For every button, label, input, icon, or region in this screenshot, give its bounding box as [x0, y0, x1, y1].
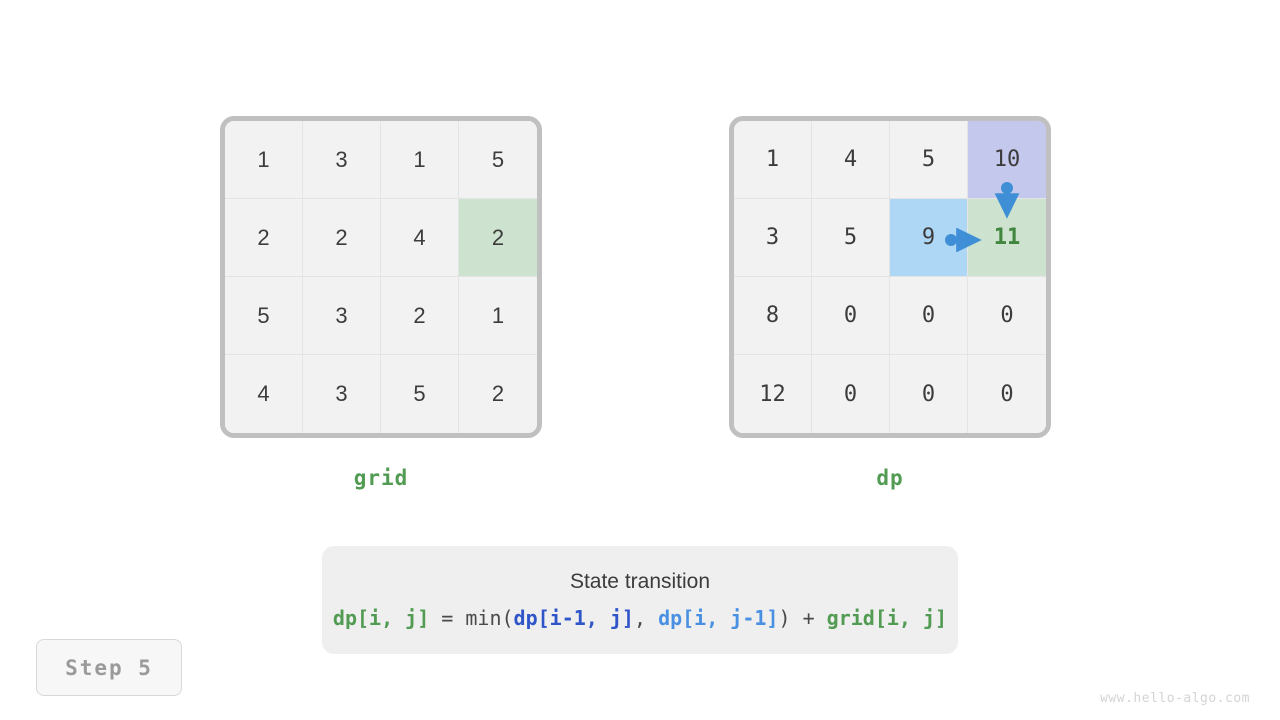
formula-token-7: grid[i, j]: [827, 606, 947, 630]
dp-matrix: 1451035911800012000: [729, 116, 1051, 438]
grid-cell-r2-c2: 2: [381, 277, 459, 355]
formula-token-6: ) +: [778, 606, 826, 630]
grid-cell-r3-c0: 4: [225, 355, 303, 433]
grid-cell-r0-c3: 5: [459, 121, 537, 199]
formula-token-3: dp[i-1, j]: [514, 606, 634, 630]
dp-matrix-label: dp: [729, 466, 1051, 490]
dp-cell-r0-c3: 10: [968, 121, 1046, 199]
state-transition-panel: State transition dp[i, j] = min(dp[i-1, …: [322, 546, 958, 654]
formula-token-1: =: [429, 606, 465, 630]
dp-cell-r1-c1: 5: [812, 199, 890, 277]
dp-cell-r0-c1: 4: [812, 121, 890, 199]
dp-cell-r0-c0: 1: [734, 121, 812, 199]
grid-cell-r3-c3: 2: [459, 355, 537, 433]
grid-cell-r2-c3: 1: [459, 277, 537, 355]
dp-cell-r1-c0: 3: [734, 199, 812, 277]
grid-cell-r0-c0: 1: [225, 121, 303, 199]
dp-cell-r2-c3: 0: [968, 277, 1046, 355]
grid-cell-r0-c1: 3: [303, 121, 381, 199]
grid-cell-r1-c1: 2: [303, 199, 381, 277]
state-transition-formula: dp[i, j] = min(dp[i-1, j], dp[i, j-1]) +…: [333, 606, 947, 630]
formula-token-4: ,: [634, 606, 658, 630]
state-transition-title: State transition: [570, 570, 710, 594]
dp-cell-r1-c2: 9: [890, 199, 968, 277]
formula-token-0: dp[i, j]: [333, 606, 429, 630]
formula-token-5: dp[i, j-1]: [658, 606, 778, 630]
dp-cell-r3-c0: 12: [734, 355, 812, 433]
dp-cell-r0-c2: 5: [890, 121, 968, 199]
dp-cell-r3-c2: 0: [890, 355, 968, 433]
grid-cell-r2-c1: 3: [303, 277, 381, 355]
grid-cell-r1-c3: 2: [459, 199, 537, 277]
grid-matrix-panel: 1315224253214352 grid: [220, 116, 542, 490]
dp-cell-r2-c2: 0: [890, 277, 968, 355]
dp-cell-r3-c3: 0: [968, 355, 1046, 433]
grid-cell-r0-c2: 1: [381, 121, 459, 199]
dp-matrix-panel: 1451035911800012000 dp: [729, 116, 1051, 490]
watermark: www.hello-algo.com: [1100, 691, 1250, 706]
grid-cell-r3-c2: 5: [381, 355, 459, 433]
step-badge: Step 5: [36, 639, 182, 696]
dp-cell-r2-c1: 0: [812, 277, 890, 355]
grid-matrix: 1315224253214352: [220, 116, 542, 438]
grid-cell-r2-c0: 5: [225, 277, 303, 355]
formula-token-2: min(: [465, 606, 513, 630]
grid-matrix-label: grid: [220, 466, 542, 490]
grid-cell-r1-c2: 4: [381, 199, 459, 277]
grid-cell-r1-c0: 2: [225, 199, 303, 277]
dp-cell-r1-c3: 11: [968, 199, 1046, 277]
dp-cell-r3-c1: 0: [812, 355, 890, 433]
grid-cell-r3-c1: 3: [303, 355, 381, 433]
dp-cell-r2-c0: 8: [734, 277, 812, 355]
step-badge-label: Step 5: [65, 656, 153, 680]
